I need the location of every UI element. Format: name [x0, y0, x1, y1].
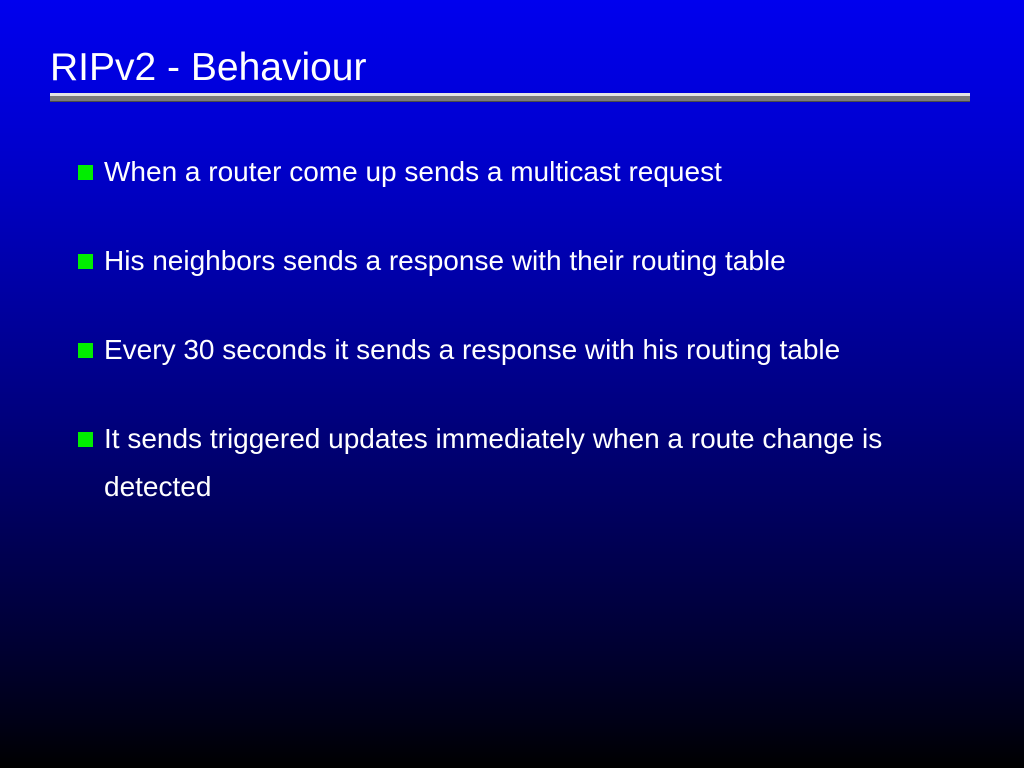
list-item-label: His neighbors sends a response with thei…	[104, 237, 958, 285]
green-square-bullet-icon	[78, 165, 93, 180]
list-item-label: When a router come up sends a multicast …	[104, 148, 958, 196]
presentation-slide: RIPv2 - Behaviour When a router come up …	[0, 0, 1024, 768]
bullet-list: When a router come up sends a multicast …	[78, 148, 958, 511]
list-item-label: Every 30 seconds it sends a response wit…	[104, 326, 958, 374]
title-rule-shadow	[50, 101, 970, 102]
list-item: Every 30 seconds it sends a response wit…	[78, 326, 958, 374]
list-item: It sends triggered updates immediately w…	[78, 415, 958, 511]
page-title: RIPv2 - Behaviour	[50, 44, 974, 92]
list-item-label: It sends triggered updates immediately w…	[104, 415, 958, 511]
title-underline-rule	[50, 93, 970, 102]
list-item: When a router come up sends a multicast …	[78, 148, 958, 196]
green-square-bullet-icon	[78, 343, 93, 358]
green-square-bullet-icon	[78, 432, 93, 447]
green-square-bullet-icon	[78, 254, 93, 269]
slide-title-block: RIPv2 - Behaviour	[50, 44, 974, 92]
list-item: His neighbors sends a response with thei…	[78, 237, 958, 285]
